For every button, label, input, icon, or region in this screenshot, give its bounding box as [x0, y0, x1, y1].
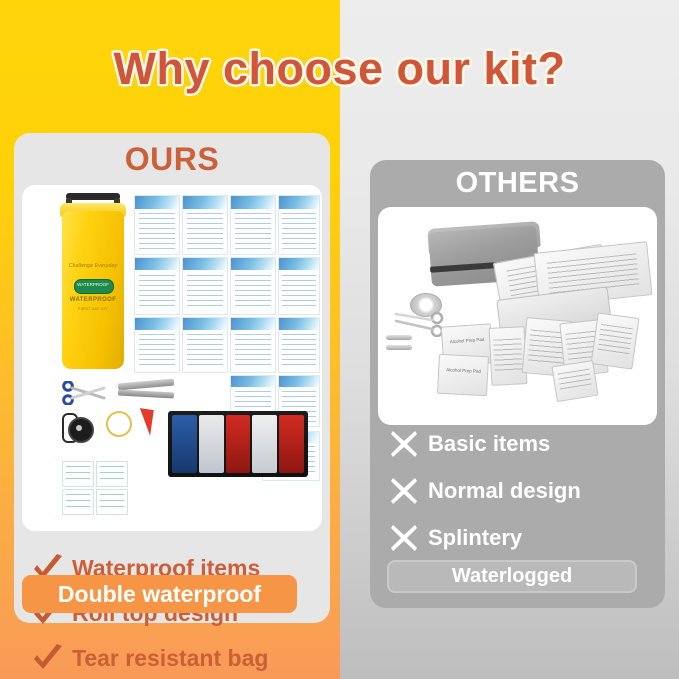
supply-pouch-contents: [172, 415, 304, 473]
ours-product-photo: Challenge Everyday WATERPROOF WATERPROOF…: [22, 185, 322, 531]
others-feature-list: Basic items Normal design Splintery: [370, 420, 665, 561]
alcohol-prep-pad-label: Alcohol Prep Pad: [446, 367, 481, 374]
check-icon: [28, 642, 68, 676]
others-product-photo: Alcohol Prep Pad Alcohol Prep Pad: [378, 207, 657, 425]
others-feature-label: Basic items: [428, 431, 550, 457]
others-feature-row: Splintery: [370, 514, 665, 561]
alcohol-prep-pad-label: Alcohol Prep Pad: [450, 337, 485, 344]
others-feature-row: Normal design: [370, 467, 665, 514]
instruction-sheet: [182, 195, 228, 255]
scissors-icon: [392, 311, 446, 337]
x-icon: [384, 427, 424, 461]
keyring-icon: [106, 411, 132, 437]
gauze-pad: [62, 461, 94, 487]
drybag-handle: [66, 193, 120, 200]
instruction-sheet: [134, 317, 180, 373]
supply-packet: [591, 312, 640, 369]
instruction-sheet: [278, 257, 320, 315]
drybag-brand-text: Challenge Everyday: [66, 263, 120, 269]
x-icon: [384, 474, 424, 508]
alcohol-prep-pad: Alcohol Prep Pad: [437, 354, 489, 397]
drybag-logo-text: WATERPROOF: [74, 282, 112, 287]
instruction-sheet: [182, 257, 228, 315]
instruction-sheet: [134, 195, 180, 255]
supply-packet: [551, 360, 598, 402]
safety-pin: [386, 345, 412, 350]
instruction-sheet: [230, 257, 276, 315]
whistle-icon: [136, 408, 153, 436]
gauze-pad: [96, 461, 128, 487]
safety-pin: [386, 335, 412, 340]
others-feature-row: Basic items: [370, 420, 665, 467]
ours-heading: OURS: [14, 133, 330, 185]
tweezers-icon: [118, 390, 174, 399]
compass-dial: [76, 425, 82, 431]
tweezers-icon: [118, 379, 174, 391]
page-title: Why choose our kit?: [0, 38, 679, 100]
others-card: OTHERS Alcohol Prep Pad Alcohol: [370, 160, 665, 608]
others-feature-label: Splintery: [428, 525, 522, 551]
supply-packet: [489, 326, 528, 386]
x-icon: [384, 521, 424, 555]
drybag-label-line1: WATERPROOF: [66, 297, 120, 303]
gauze-pad: [96, 489, 128, 515]
instruction-sheet: [278, 317, 320, 373]
instruction-sheet: [278, 195, 320, 255]
gauze-pad: [62, 489, 94, 515]
others-feature-label: Normal design: [428, 478, 581, 504]
comparison-infographic: Why choose our kit? OURS Challenge Every…: [0, 0, 679, 679]
scissors-icon: [62, 381, 108, 405]
others-heading: OTHERS: [370, 160, 665, 207]
drybag-label-line2: FIRST AID KIT: [66, 306, 120, 311]
others-badge[interactable]: Waterlogged: [387, 560, 637, 593]
ours-feature-row: Tear resistant bag: [14, 636, 330, 679]
ours-badge[interactable]: Double waterproof: [22, 575, 297, 613]
instruction-sheet: [134, 257, 180, 315]
instruction-sheet: [230, 317, 276, 373]
ours-feature-label: Tear resistant bag: [72, 645, 268, 672]
instruction-sheet: [182, 317, 228, 373]
instruction-sheet: [230, 195, 276, 255]
ours-card: OURS Challenge Everyday WATERPROOF WATER…: [14, 133, 330, 623]
